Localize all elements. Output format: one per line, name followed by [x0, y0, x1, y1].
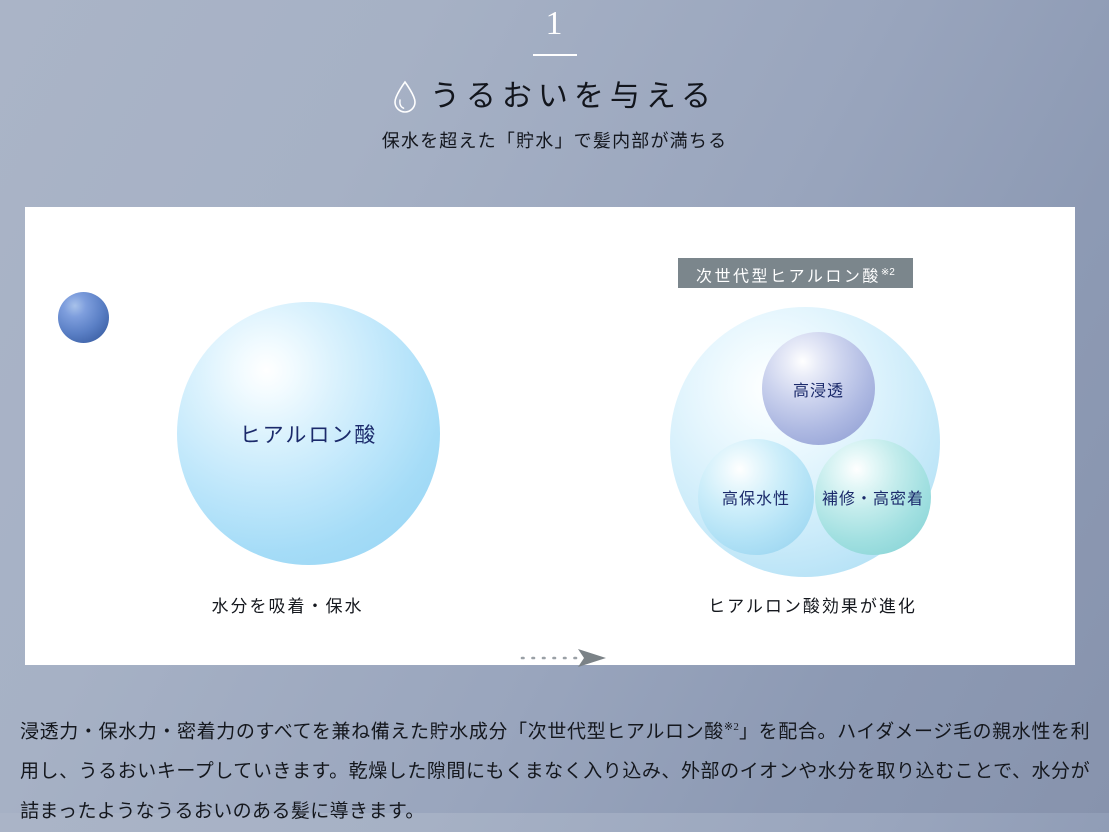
- diagram-after-panel: 次世代型ヒアルロン酸※2 高浸透 高保水性 補修・高密着 ヒアルロン酸効果が進化: [550, 207, 1075, 665]
- water-molecule-sphere: [58, 292, 109, 343]
- body-text-part1: 浸透力・保水力・密着力のすべてを兼ね備えた貯水成分「次世代型ヒアルロン酸: [20, 721, 724, 742]
- section-subtitle: 保水を超えた「貯水」で髪内部が満ちる: [0, 128, 1109, 154]
- bubble-label: 補修・高密着: [822, 485, 924, 509]
- section-header: 1 うるおいを与える 保水を超えた「貯水」で髪内部が満ちる: [0, 0, 1109, 154]
- body-paragraph: 浸透力・保水力・密着力のすべてを兼ね備えた貯水成分「次世代型ヒアルロン酸※2」を…: [20, 707, 1090, 832]
- section-title: うるおいを与える: [430, 80, 717, 114]
- bubble-label: 高保水性: [722, 485, 790, 509]
- step-number: 1: [0, 0, 1109, 46]
- body-footnote-marker: ※2: [724, 721, 739, 733]
- next-gen-banner-note: ※2: [881, 267, 895, 278]
- bubble-label: 高浸透: [793, 377, 844, 401]
- bubble-repair-high-adhesion: 補修・高密着: [815, 439, 931, 555]
- section-title-row: うるおいを与える: [0, 80, 1109, 114]
- hyaluronic-acid-label: ヒアルロン酸: [177, 419, 440, 449]
- diagram-before-panel: ヒアルロン酸 水分を吸着・保水: [25, 207, 550, 665]
- next-gen-banner: 次世代型ヒアルロン酸※2: [678, 258, 913, 288]
- diagram-card: ヒアルロン酸 水分を吸着・保水 次世代型ヒアルロン酸※2 高浸透 高保水性 補修…: [25, 207, 1075, 665]
- step-divider: [533, 54, 577, 56]
- water-drop-icon: [392, 80, 418, 114]
- after-caption: ヒアルロン酸効果が進化: [550, 592, 1075, 617]
- next-gen-banner-label: 次世代型ヒアルロン酸: [696, 268, 881, 285]
- bubble-high-penetration: 高浸透: [762, 332, 875, 445]
- hyaluronic-acid-bubble: ヒアルロン酸: [177, 302, 440, 565]
- before-caption: 水分を吸着・保水: [25, 592, 550, 617]
- bubble-high-moisture-retention: 高保水性: [698, 439, 814, 555]
